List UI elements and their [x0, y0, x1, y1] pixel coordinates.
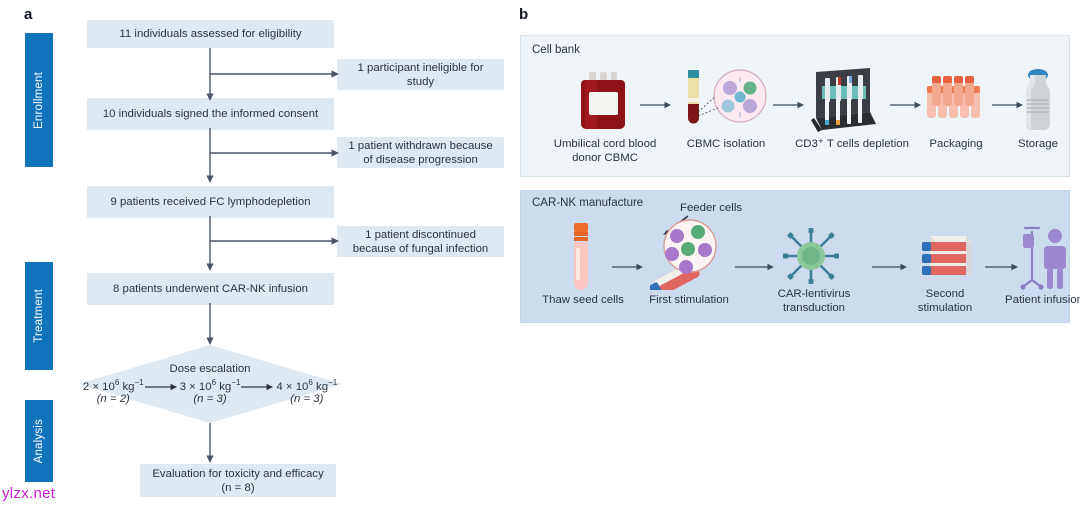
panel-b-letter: b: [519, 6, 528, 23]
diamond-title: Dose escalation: [169, 362, 250, 376]
stage-label-treatment: Treatment: [33, 289, 45, 343]
car-nk-step-label-1: Thaw seed cells: [535, 294, 631, 308]
dose-item-2: 3 × 106 kg−1 (n = 3): [180, 376, 241, 407]
cryo-storage-bottle-icon: [1018, 66, 1058, 132]
dose-arrow-2: [241, 382, 275, 392]
car-nk-arrow-2: [735, 262, 777, 272]
cell-bank-arrow-3: [890, 100, 924, 110]
dose-item-3: 4 × 106 kg−1 (n = 3): [276, 376, 337, 407]
connector-diamond-to-evaluation: [200, 421, 220, 470]
watermark: ylzx.net: [2, 485, 55, 502]
flowbox-withdrawn: 1 patient withdrawn because of disease p…: [337, 137, 504, 168]
connector-assessed-to-consent: [80, 44, 360, 109]
flowbox-evaluation: Evaluation for toxicity and efficacy (n …: [140, 464, 336, 497]
cryovial-icon: [568, 222, 594, 292]
dose-escalation-row: 2 × 106 kg−1 (n = 2) 3 × 106 kg−1 (n = 3…: [83, 376, 337, 407]
diamond-dose-escalation: Dose escalation 2 × 106 kg−1 (n = 2) 3 ×…: [78, 345, 342, 423]
panel-a-letter: a: [24, 6, 32, 23]
lentivirus-icon: [783, 228, 839, 284]
flask-feeder-cells-icon: [650, 218, 722, 290]
stacked-flasks-icon: [916, 234, 972, 280]
dose-n-2: (n = 3): [193, 393, 226, 406]
cell-bank-step-label-5: Storage: [1003, 138, 1073, 152]
dose-n-3: (n = 3): [290, 393, 323, 406]
cd3-depletion-device-icon: [808, 66, 880, 136]
stage-bar-enrollment: Enrollment: [25, 33, 53, 167]
centrifuge-tube-cells-icon: [678, 68, 770, 134]
car-nk-title: CAR-NK manufacture: [532, 197, 643, 209]
vial-rack-icon: [925, 72, 987, 130]
cell-bank-step-label-1: Umbilical cord blood donor CBMC: [545, 138, 665, 165]
stage-label-analysis: Analysis: [33, 419, 45, 463]
stage-bar-treatment: Treatment: [25, 262, 53, 370]
dose-value-3: 4 × 106 kg−1: [276, 376, 337, 394]
dose-value-2: 3 × 106 kg−1: [180, 376, 241, 394]
connector-lympho-to-infusion: [80, 212, 360, 285]
dose-item-1: 2 × 106 kg−1 (n = 2): [83, 376, 144, 407]
car-nk-arrow-1: [612, 262, 646, 272]
cell-bank-step-label-3: CD3⁺ T cells depletion: [789, 138, 915, 152]
flowbox-discontinued: 1 patient discontinued because of fungal…: [337, 226, 504, 257]
car-nk-step-label-5: Patient infusion: [996, 294, 1080, 308]
cell-bank-step-label-2: CBMC isolation: [676, 138, 776, 152]
car-nk-step-label-3: CAR-lentivirus transduction: [765, 288, 863, 315]
dose-arrow-1: [145, 382, 179, 392]
cell-bank-title: Cell bank: [532, 44, 580, 56]
connector-consent-to-lympho: [80, 124, 360, 197]
car-nk-arrow-4: [985, 262, 1021, 272]
car-nk-step-label-4: Second stimulation: [906, 288, 984, 315]
stage-bar-analysis: Analysis: [25, 400, 53, 482]
patient-iv-icon: [1018, 226, 1070, 292]
blood-bag-icon: [575, 70, 631, 132]
flowbox-ineligible: 1 participant ineligible for study: [337, 59, 504, 90]
feeder-cells-label: Feeder cells: [680, 202, 742, 214]
dose-n-1: (n = 2): [97, 393, 130, 406]
car-nk-step-label-2: First stimulation: [638, 294, 740, 308]
cell-bank-step-label-4: Packaging: [913, 138, 999, 152]
cell-bank-arrow-2: [773, 100, 807, 110]
car-nk-arrow-3: [872, 262, 910, 272]
stage-label-enrollment: Enrollment: [33, 72, 45, 129]
cell-bank-arrow-1: [640, 100, 674, 110]
dose-value-1: 2 × 106 kg−1: [83, 376, 144, 394]
